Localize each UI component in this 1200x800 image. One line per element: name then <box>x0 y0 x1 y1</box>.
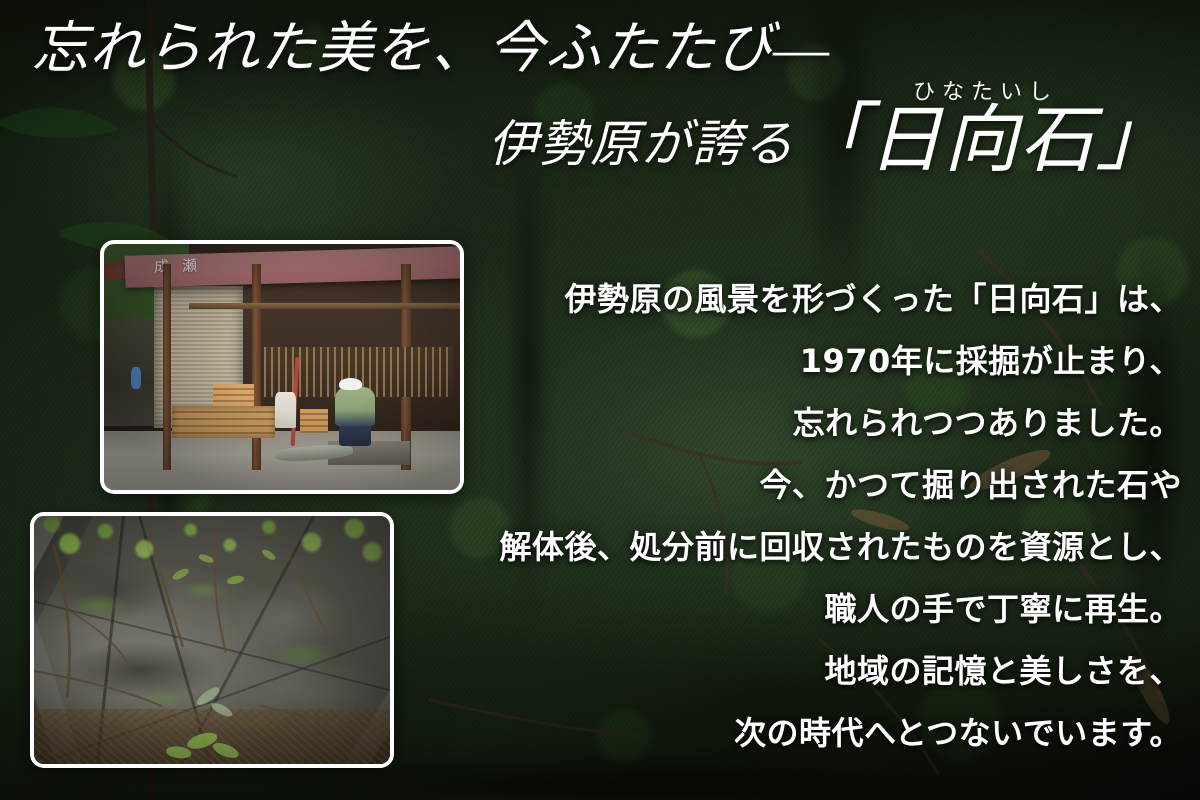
workshop-color-grade <box>104 244 460 490</box>
photo-quarry-image <box>34 516 390 764</box>
photo-workshop-image: 成瀬 <box>104 244 460 490</box>
poster-canvas: 忘れられた美を、今ふたたび― 伊勢原が誇る 「 ひなたいし 日向石 」 成瀬 <box>0 0 1200 800</box>
quarry-color-grade <box>34 516 390 764</box>
photo-workshop: 成瀬 <box>100 240 464 494</box>
photo-quarry <box>30 512 394 768</box>
